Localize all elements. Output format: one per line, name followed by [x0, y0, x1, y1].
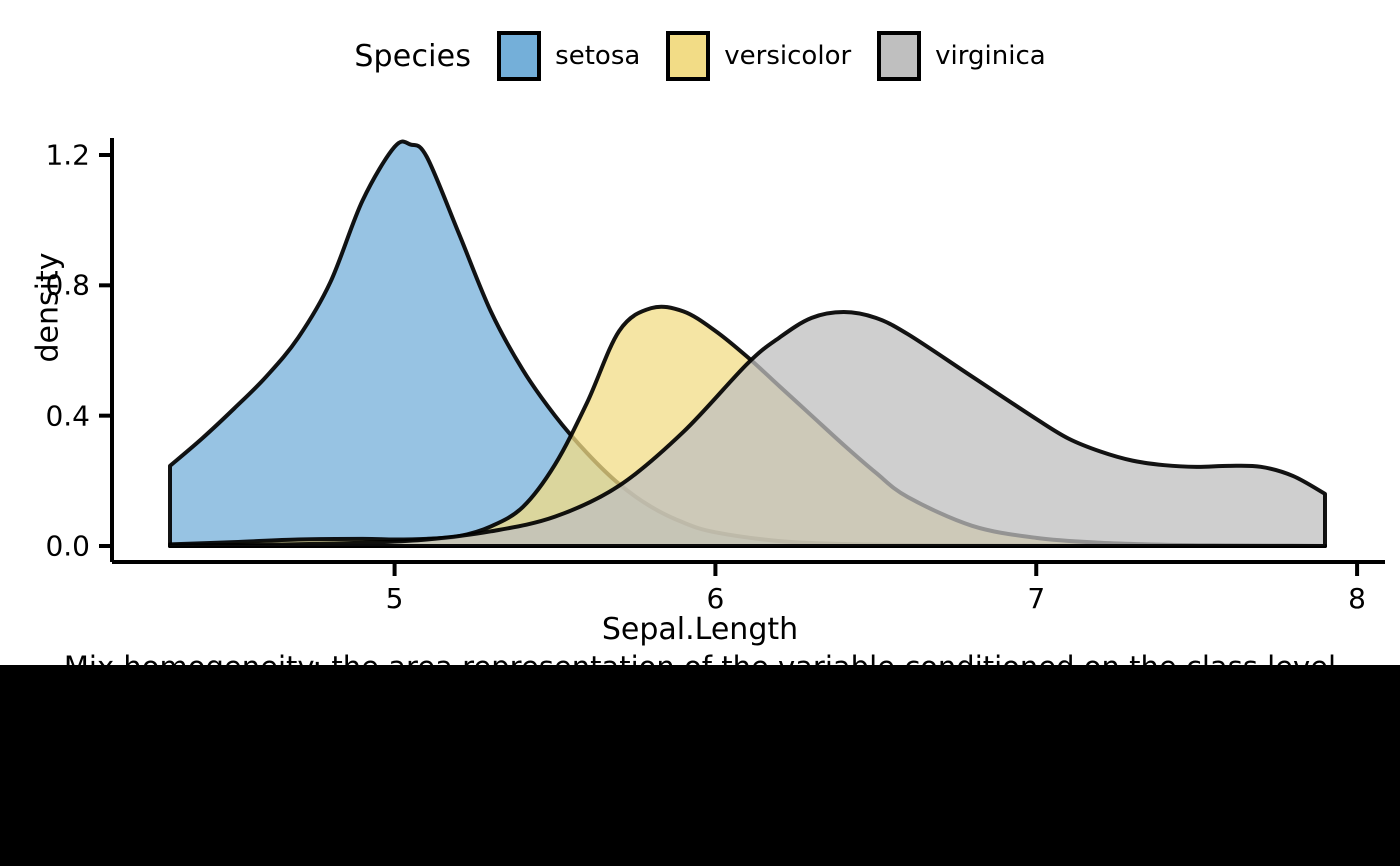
y-axis-title: density [31, 218, 66, 398]
black-overlay-bar [0, 665, 1400, 866]
x-tick-label: 5 [386, 582, 404, 615]
x-tick-label: 6 [706, 582, 724, 615]
y-tick-label: 0.0 [0, 530, 90, 563]
y-tick-label: 0.4 [0, 399, 90, 432]
x-axis-title: Sepal.Length [0, 612, 1400, 647]
x-tick-label: 8 [1348, 582, 1366, 615]
y-tick-label: 0.8 [0, 269, 90, 302]
y-tick-label: 1.2 [0, 139, 90, 172]
density-plot-figure: Species setosa versicolor virginica dens… [0, 0, 1400, 866]
x-tick-label: 7 [1027, 582, 1045, 615]
